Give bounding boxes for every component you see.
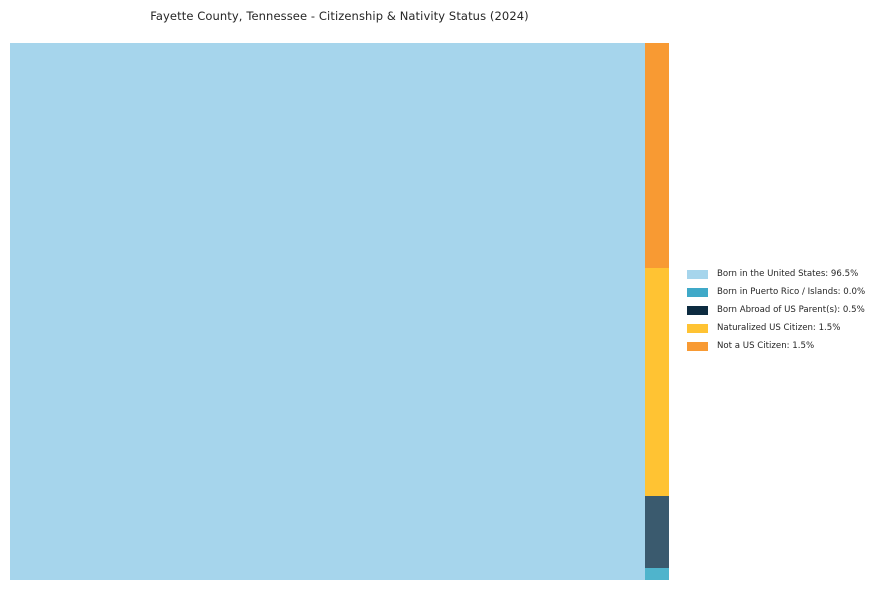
legend-item[interactable]: Naturalized US Citizen: 1.5% [687, 319, 883, 337]
legend-item-label: Born Abroad of US Parent(s): 0.5% [717, 306, 865, 315]
legend-item-label: Born in Puerto Rico / Islands: 0.0% [717, 288, 865, 297]
legend-item[interactable]: Not a US Citizen: 1.5% [687, 337, 883, 355]
legend-item-label: Born in the United States: 96.5% [717, 270, 858, 279]
treemap-tile[interactable] [645, 43, 669, 268]
treemap-tile[interactable] [645, 268, 669, 496]
legend-swatch-icon [687, 270, 708, 279]
legend-item[interactable]: Born in the United States: 96.5% [687, 265, 883, 283]
treemap-plot-area [10, 43, 669, 580]
treemap-chart: Fayette County, Tennessee - Citizenship … [0, 0, 889, 590]
chart-legend: Born in the United States: 96.5%Born in … [687, 265, 883, 355]
legend-item[interactable]: Born Abroad of US Parent(s): 0.5% [687, 301, 883, 319]
legend-swatch-icon [687, 342, 708, 351]
chart-title: Fayette County, Tennessee - Citizenship … [0, 9, 679, 23]
legend-item-label: Not a US Citizen: 1.5% [717, 342, 814, 351]
legend-swatch-icon [687, 306, 708, 315]
treemap-tile[interactable] [645, 568, 669, 580]
legend-item-label: Naturalized US Citizen: 1.5% [717, 324, 840, 333]
treemap-tile[interactable] [645, 496, 669, 568]
legend-item[interactable]: Born in Puerto Rico / Islands: 0.0% [687, 283, 883, 301]
legend-swatch-icon [687, 324, 708, 333]
treemap-tile[interactable] [10, 43, 645, 580]
legend-swatch-icon [687, 288, 708, 297]
